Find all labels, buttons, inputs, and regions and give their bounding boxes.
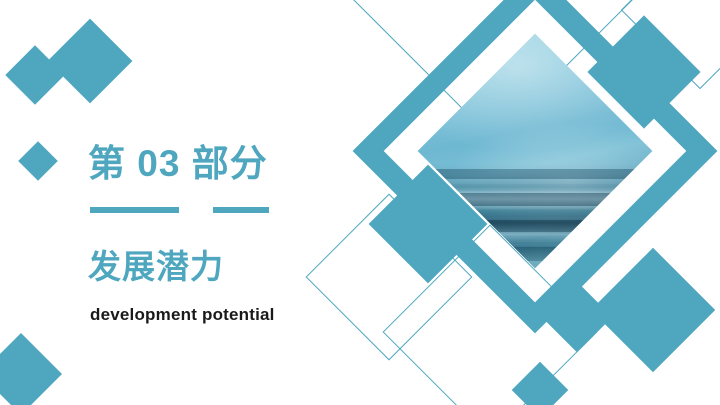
divider-short xyxy=(213,207,269,213)
divider-long xyxy=(90,207,179,213)
diamond-lower-right-large xyxy=(591,248,715,372)
section-label: 第 03 部分 xyxy=(88,133,268,187)
slide-canvas: 第 03 部分 发展潜力 development potential xyxy=(0,0,720,405)
heading-chinese: 发展潜力 xyxy=(88,240,224,288)
photo-band-1 xyxy=(418,169,653,179)
diamond-top-left-large xyxy=(48,19,133,104)
diamond-title-bullet xyxy=(18,141,58,181)
diamond-bottom-left xyxy=(0,333,62,405)
heading-english: development potential xyxy=(90,305,275,325)
